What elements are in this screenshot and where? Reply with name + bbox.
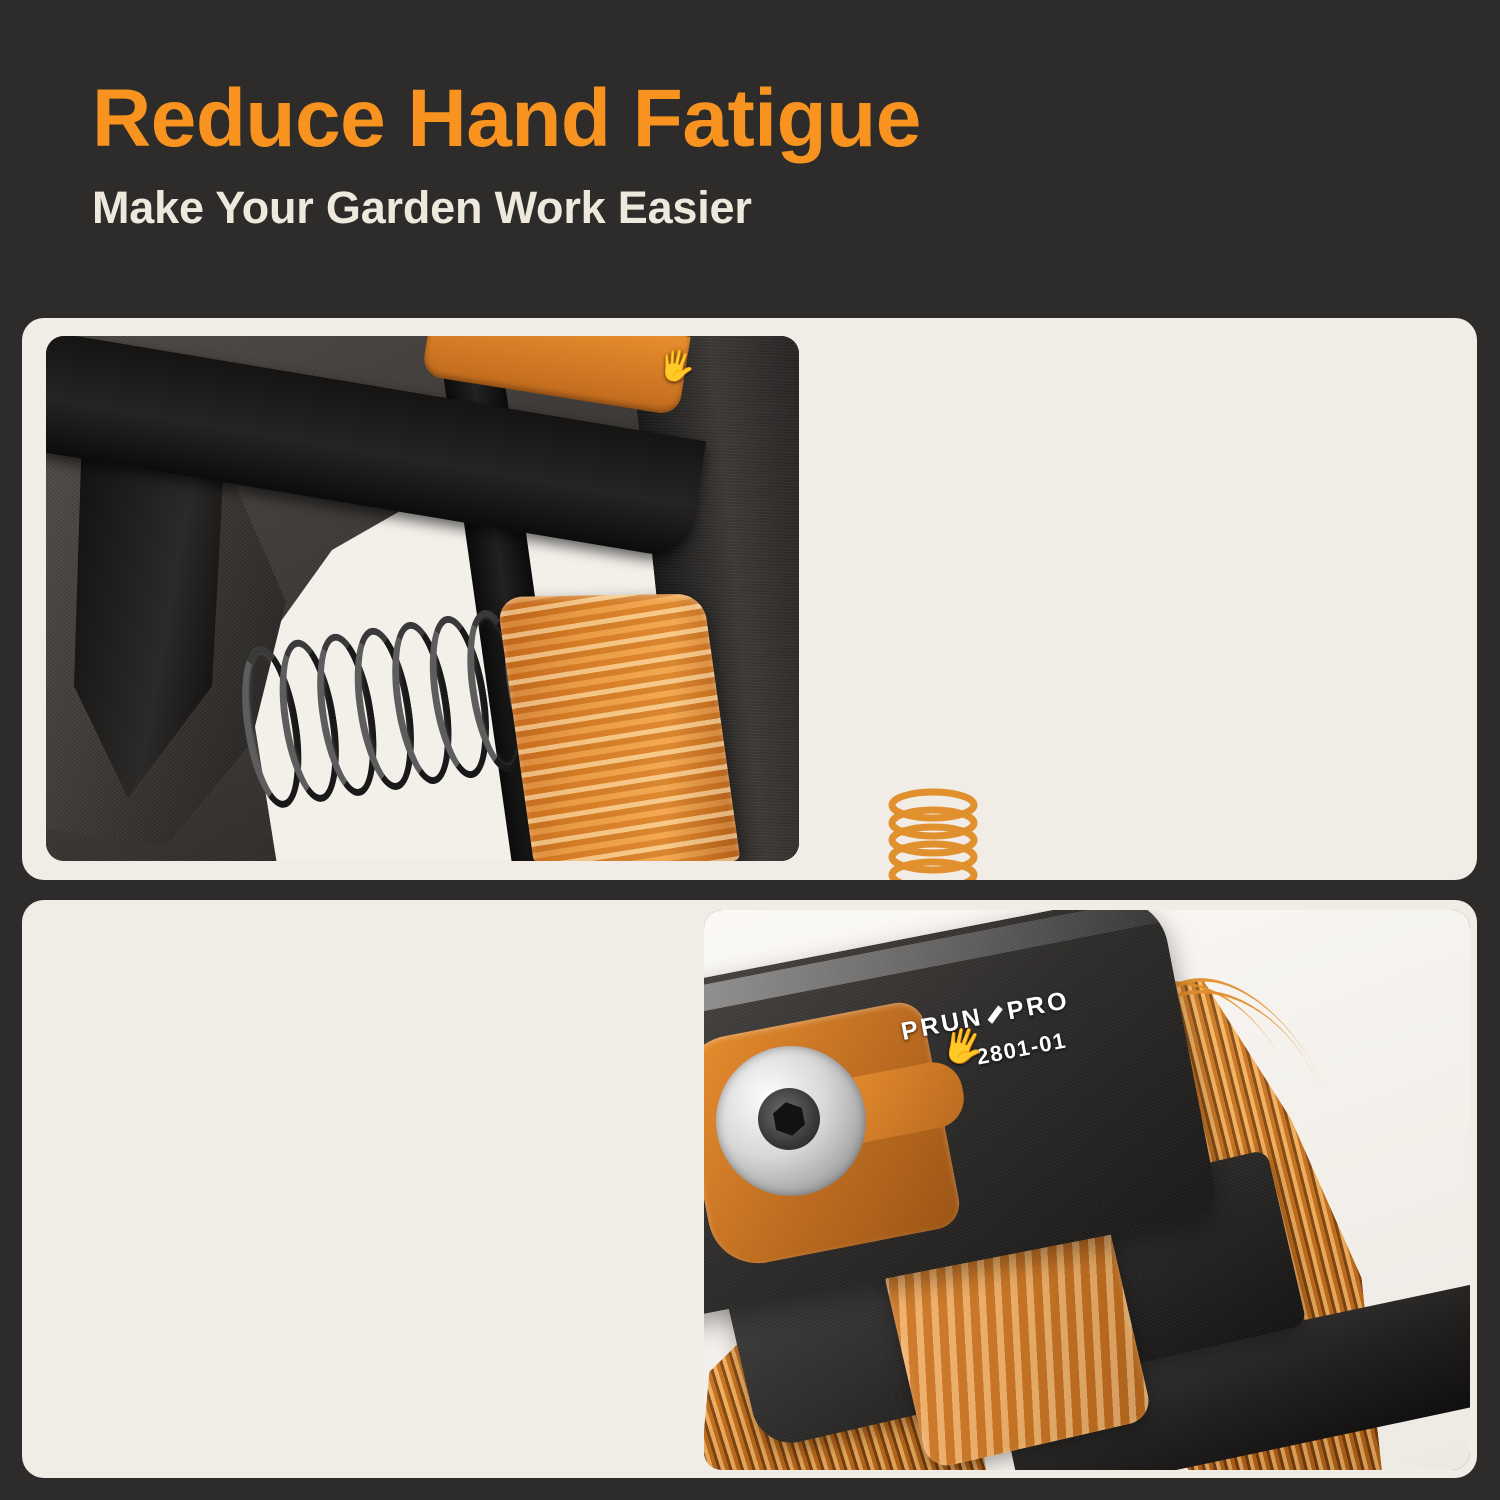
- feature-block-spring: High Strength Spring Excellent Rebound P…: [874, 780, 1434, 880]
- header: Reduce Hand Fatigue Make Your Garden Wor…: [92, 78, 1412, 234]
- coil-spring-icon: [874, 780, 1434, 880]
- page-subtitle: Make Your Garden Work Easier: [92, 182, 1412, 234]
- feature-card-spring: 🖐 High Strength Spring Excellent Rebound…: [22, 318, 1477, 880]
- product-photo-spring-closeup: 🖐: [46, 336, 799, 861]
- orange-grip-pad: [496, 594, 740, 861]
- product-photo-handle-closeup: PRUN PRO 2801-01 🖐: [704, 910, 1470, 1470]
- feature-card-handle: Ergonomic Handle Design Comfortable and …: [22, 900, 1477, 1478]
- grip-pad-ribs: [496, 594, 740, 861]
- page-title: Reduce Hand Fatigue: [92, 78, 1412, 160]
- hand-press-marking-icon: 🖐: [656, 349, 698, 385]
- brand-leaf-icon: [985, 1005, 1005, 1025]
